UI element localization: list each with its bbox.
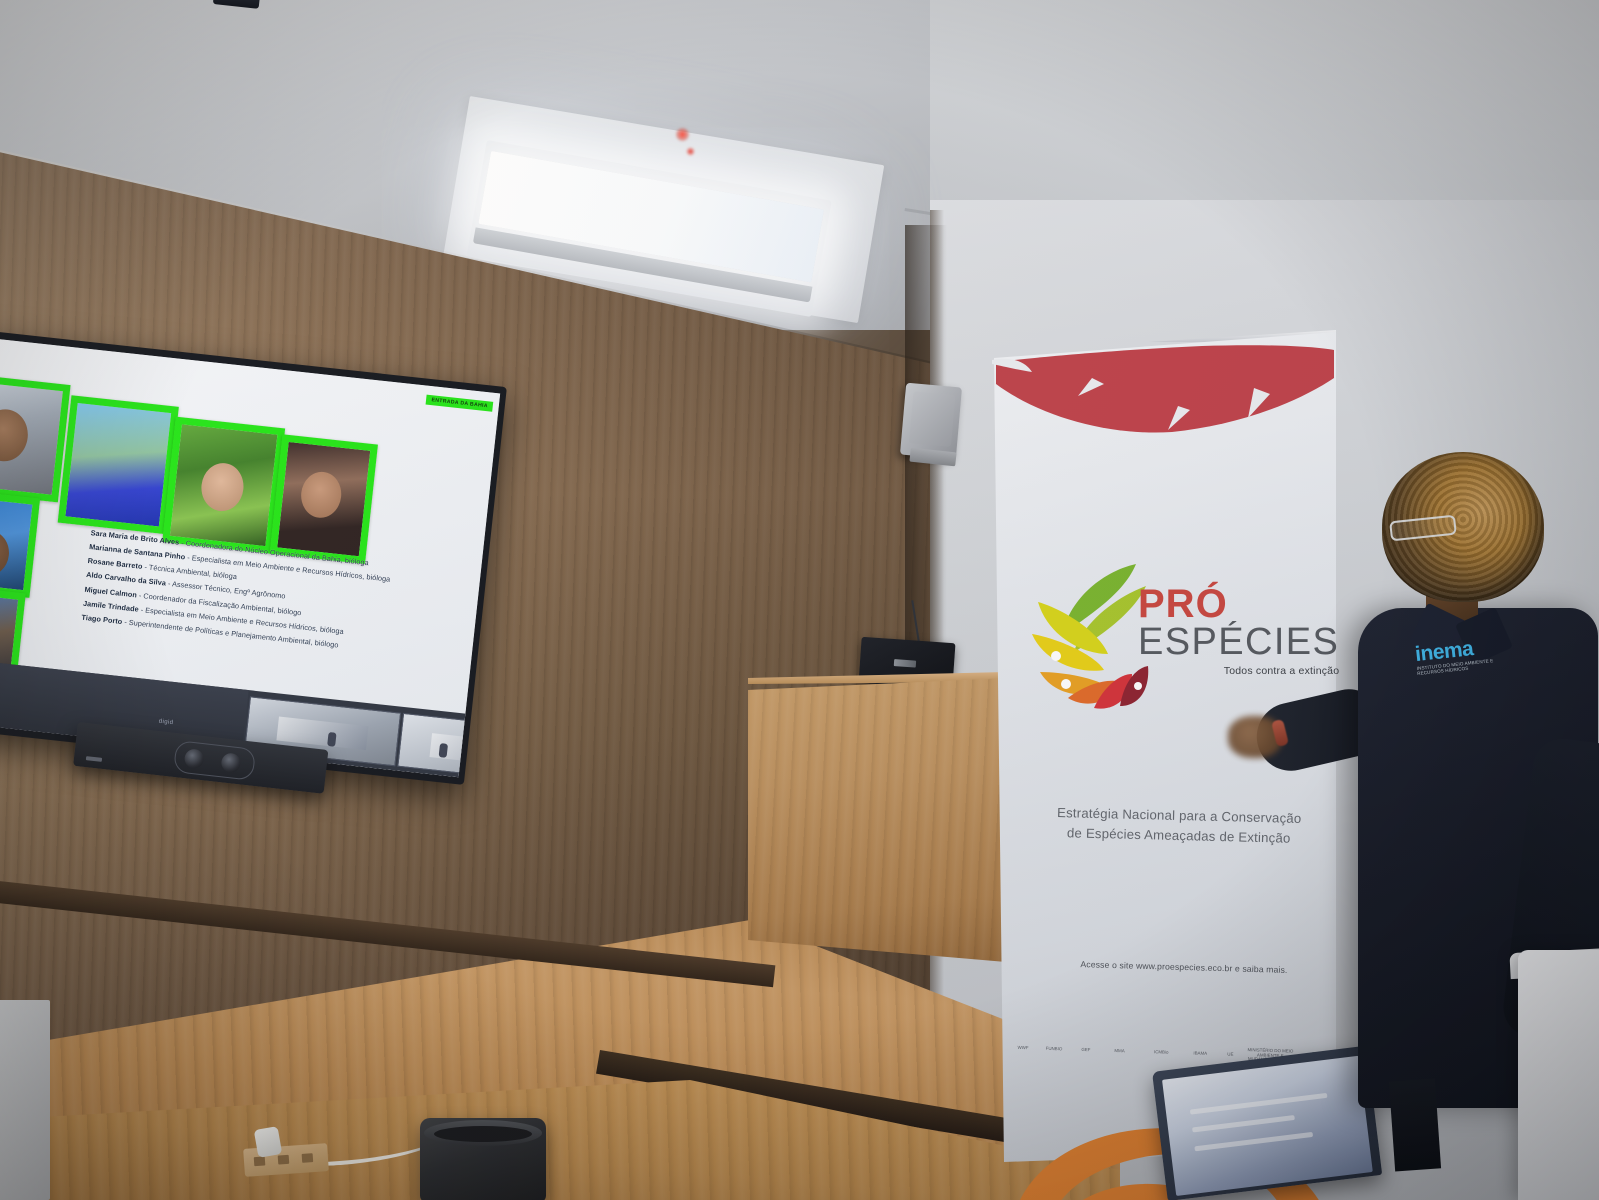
white-power-plug <box>254 1126 282 1158</box>
banner-subtitle: Estratégia Nacional para a Conservação d… <box>1020 802 1339 851</box>
participant-name: Miguel Calmon <box>84 584 137 599</box>
participant-photo-1 <box>0 373 71 502</box>
logo-word-pro: PRÓ <box>1138 586 1339 623</box>
wall-mounted-television[interactable]: ENTRADA DA BAHIA <box>0 330 507 785</box>
inema-shirt-logo: inema INSTITUTO DO MEIO AMBIENTE E RECUR… <box>1414 636 1496 684</box>
partner-logo-icmbio: ICMBio <box>1143 1039 1179 1066</box>
red-leaf-graphic <box>992 344 1334 440</box>
screen-content-bar <box>1194 1132 1313 1151</box>
left-wall-panel <box>0 1000 50 1200</box>
participant-name: Tiago Porto <box>81 613 123 626</box>
logo-tagline: Todos contra a extinção <box>1138 665 1339 677</box>
screen-content-bar <box>1192 1115 1295 1133</box>
red-leaf-svg <box>992 344 1334 440</box>
partner-logo-ibama: IBAMA <box>1186 1040 1215 1067</box>
face-shape <box>0 407 30 464</box>
pro-especies-logo: PRÓ ESPÉCIES Todos contra a extinção <box>1010 552 1326 722</box>
wall-mounted-speaker <box>900 383 962 460</box>
participant-photo-2 <box>58 395 179 534</box>
thumbnail-content <box>276 716 368 749</box>
partner-logo-gef: GEF <box>1076 1037 1096 1064</box>
camera-lens-icon <box>220 752 241 773</box>
dark-round-trash-bin <box>420 1118 546 1200</box>
camera-lens-icon <box>184 748 205 769</box>
presentation-slide: ENTRADA DA BAHIA <box>0 338 500 778</box>
camera-lens-group <box>173 740 256 781</box>
white-side-table <box>1518 950 1599 1200</box>
partner-logo-mma: MMA <box>1102 1038 1137 1065</box>
leaf-cluster-icon <box>1028 558 1154 716</box>
face-shape <box>299 470 344 520</box>
participant-name: Jamile Trindade <box>83 599 140 614</box>
outlet-slot[interactable] <box>278 1155 290 1165</box>
screen-content-bar <box>1190 1093 1328 1115</box>
smoke-detector-indicator <box>676 128 689 141</box>
participant-name: Rosane Barreto <box>87 556 143 571</box>
speaker-grille <box>909 391 955 446</box>
participant-photo-4 <box>270 434 378 564</box>
partner-logo-wwf: WWF <box>1014 1035 1033 1062</box>
face-shape <box>199 461 246 513</box>
conference-room-photo: ENTRADA DA BAHIA <box>0 0 1599 1200</box>
tv-screen: ENTRADA DA BAHIA <box>0 338 500 778</box>
person-silhouette <box>327 732 336 747</box>
logo-wordmark: PRÓ ESPÉCIES Todos contra a extinção <box>1138 586 1339 677</box>
presenter-lower-body <box>1389 1079 1441 1172</box>
participant-photo-5 <box>0 488 40 598</box>
partner-logo-funbio: FUNBIO <box>1038 1036 1069 1063</box>
outlet-slot[interactable] <box>302 1153 314 1163</box>
participant-photo-3 <box>162 417 285 554</box>
outlet-slot[interactable] <box>254 1156 266 1166</box>
wooden-podium <box>748 678 1006 962</box>
participant-name-list: Sara Maria de Brito Alves - Coordenadora… <box>81 528 442 665</box>
bin-opening <box>434 1126 532 1142</box>
smoke-detector-indicator-secondary <box>686 147 695 156</box>
face-shape <box>0 528 11 578</box>
person-silhouette <box>439 743 448 758</box>
leaf-cluster-svg <box>1028 558 1154 716</box>
device-button-panel[interactable] <box>894 659 916 668</box>
soundbar-brand-mark <box>86 756 102 762</box>
logo-word-especies: ESPÉCIES <box>1138 623 1339 662</box>
